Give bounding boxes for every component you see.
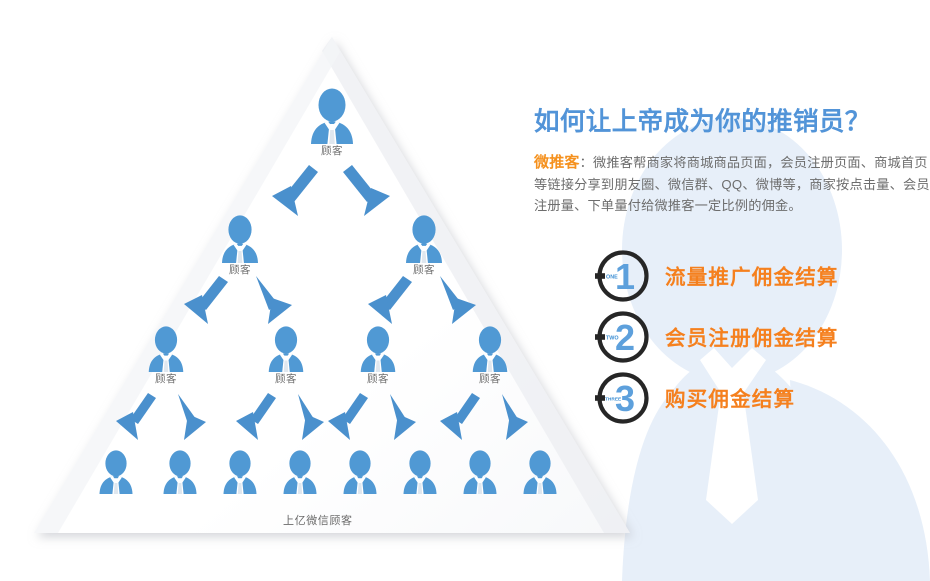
pyramid-node-tier3-2: 顾客 [262, 326, 310, 385]
page-title: 如何让上帝成为你的推销员？ [534, 101, 871, 138]
step-word-prefix: The [597, 274, 605, 279]
person-icon [358, 326, 398, 372]
step-label: 会员注册佣金结算 [665, 321, 839, 351]
step-word: TWO [606, 335, 619, 341]
step-word-prefix: The [597, 335, 605, 340]
step-word-prefix: The [596, 396, 604, 401]
step-word: THREE [605, 396, 622, 402]
pyramid-node-tier4-2 [159, 450, 201, 494]
step-number: 1 [615, 256, 635, 297]
person-icon [461, 450, 499, 494]
person-icon [97, 450, 135, 494]
step-label: 流量推广佣金结算 [665, 260, 839, 290]
step-item-3[interactable]: 3 The THREE 购买佣金结算 [595, 370, 930, 431]
steps-list: 1 The ONE 流量推广佣金结算 2 The TWO 会员注册佣金结算 [595, 248, 930, 431]
step-item-1[interactable]: 1 The ONE 流量推广佣金结算 [595, 248, 930, 309]
pyramid-node-tier3-4: 顾客 [466, 326, 514, 385]
description-paragraph: 微推客：微推客帮商家将商城商品页面，会员注册页面、商城首页等链接分享到朋友圈、微… [534, 152, 930, 217]
pyramid-node-tier4-3 [219, 450, 261, 494]
person-icon [281, 450, 319, 494]
person-icon [341, 450, 379, 494]
pyramid-bottom-caption: 上亿微信顾客 [283, 512, 353, 528]
pyramid-node-tier2-1: 顾客 [214, 215, 266, 276]
person-icon [221, 450, 259, 494]
right-content-panel: 如何让上帝成为你的推销员？ 微推客：微推客帮商家将商城商品页面，会员注册页面、商… [512, 0, 930, 581]
pyramid-node-tier4-4 [279, 450, 321, 494]
pyramid-node-label: 顾客 [398, 264, 450, 276]
pyramid-node-tier4-6 [399, 450, 441, 494]
step-badge-one-icon: 1 The ONE [595, 248, 651, 304]
brand-name: 微推客 [534, 154, 580, 171]
pyramid-node-label: 顾客 [302, 145, 362, 157]
pyramid-node-label: 顾客 [214, 264, 266, 276]
pyramid-node-tier4-7 [459, 450, 501, 494]
person-icon [266, 326, 306, 372]
infographic-canvas: 顾客 顾客 顾客 [0, 0, 930, 581]
pyramid-node-tier4-1 [95, 450, 137, 494]
pyramid-node-tier1-1: 顾客 [302, 88, 362, 157]
step-word: ONE [606, 274, 618, 280]
person-icon [308, 88, 356, 144]
person-icon [146, 326, 186, 372]
pyramid-node-tier3-3: 顾客 [354, 326, 402, 385]
step-item-2[interactable]: 2 The TWO 会员注册佣金结算 [595, 309, 930, 370]
pyramid-node-label: 顾客 [354, 373, 402, 385]
person-icon [403, 215, 445, 263]
description-text: ：微推客帮商家将商城商品页面，会员注册页面、商城首页等链接分享到朋友圈、微信群、… [534, 155, 930, 213]
step-badge-three-icon: 3 The THREE [595, 370, 651, 426]
person-icon [470, 326, 510, 372]
step-label: 购买佣金结算 [665, 382, 795, 412]
step-badge-two-icon: 2 The TWO [595, 309, 651, 365]
pyramid-node-tier3-1: 顾客 [142, 326, 190, 385]
pyramid-node-tier4-5 [339, 450, 381, 494]
pyramid-node-label: 顾客 [142, 373, 190, 385]
pyramid-node-label: 顾客 [262, 373, 310, 385]
pyramid-node-tier2-2: 顾客 [398, 215, 450, 276]
person-icon [161, 450, 199, 494]
person-icon [401, 450, 439, 494]
person-icon [219, 215, 261, 263]
pyramid-node-label: 顾客 [466, 373, 514, 385]
